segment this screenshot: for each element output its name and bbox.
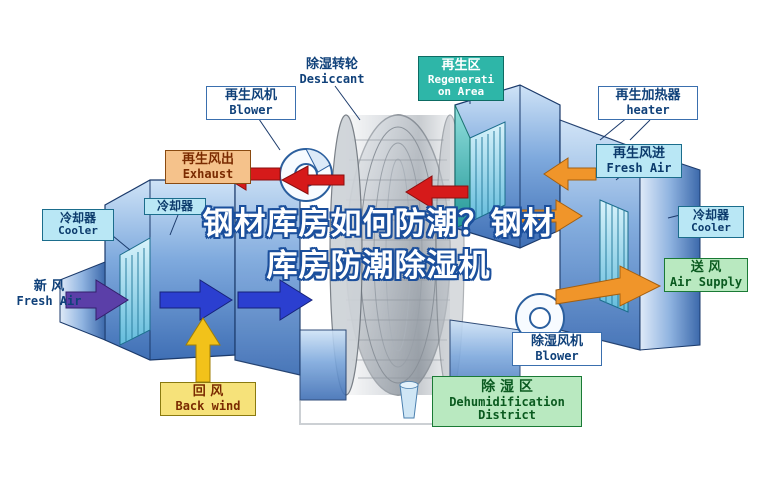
overlay-title-line2: 库房防潮除湿机 [0,246,757,286]
label-desiccant-rotor: 除湿转轮 Desiccant [284,58,380,86]
label-regen-exhaust: 再生风出 Exhaust [165,150,251,184]
diagram-canvas: 除湿转轮 Desiccant 再生风机 Blower 再生区 Regenerat… [0,0,757,488]
label-dehumid-blower: 除湿风机 Blower [512,332,602,366]
label-regen-heater: 再生加热器 heater [598,86,698,120]
label-regen-blower: 再生风机 Blower [206,86,296,120]
overlay-title-line1: 钢材库房如何防潮？钢材 [0,204,757,244]
label-regen-fresh-air-in: 再生风进 Fresh Air [596,144,682,178]
label-regeneration-area: 再生区 Regenerati on Area [418,56,504,101]
label-back-wind: 回 风 Back wind [160,382,256,416]
label-dehumidification-district: 除 湿 区 Dehumidification District [432,376,582,427]
